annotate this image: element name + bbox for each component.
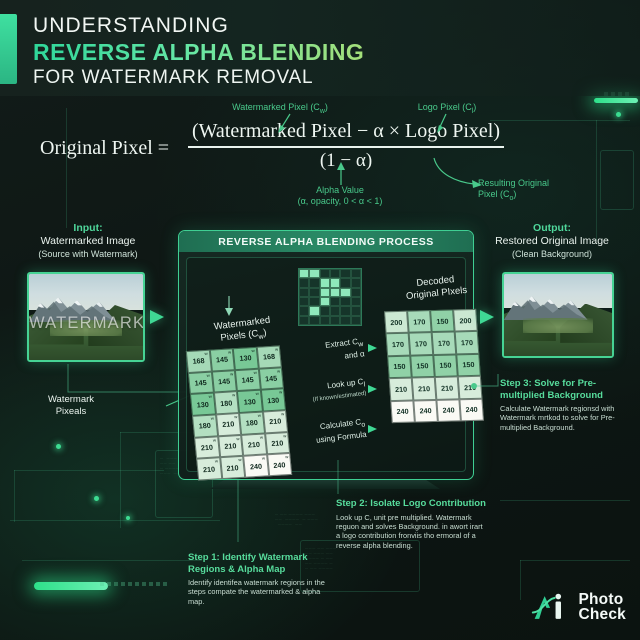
input-title: Input:	[0, 222, 178, 235]
output-title: Output:	[462, 222, 640, 235]
pixel-cell: 150	[387, 355, 412, 378]
pixel-cell: 168w	[186, 350, 212, 373]
alpha-map-cell	[330, 306, 340, 315]
arrow-process-to-output	[480, 310, 494, 324]
alpha-map-grid	[298, 268, 362, 326]
alpha-map-cell	[330, 269, 340, 278]
alpha-map-cell	[340, 278, 350, 287]
annotation-arrow-logo	[432, 113, 458, 135]
pixel-superscript: w	[275, 347, 279, 352]
alpha-map-cell	[299, 297, 309, 306]
pixel-cell: 170	[455, 331, 480, 354]
pixel-cell: 145w	[209, 348, 235, 371]
step-3-title: Step 3: Solve for Pre-multiplied Backgro…	[500, 378, 636, 401]
pixel-cell: 240	[390, 400, 415, 423]
pixel-cell: 150	[410, 355, 435, 378]
brand-logo[interactable]: Photo Check	[531, 592, 626, 622]
pixel-superscript: w	[253, 370, 257, 375]
formula-section: Original Pixel = (Watermarked Pixel − α …	[0, 100, 640, 208]
pixel-cell: 240	[413, 400, 438, 423]
annotation-arrow-result	[430, 156, 486, 190]
alpha-map-cell	[320, 278, 330, 287]
pixel-cell: 210w	[265, 432, 291, 455]
output-panel-heading: Output: Restored Original Image (Clean B…	[462, 222, 640, 260]
alpha-map-cell	[299, 269, 309, 278]
ai-logo-icon	[531, 592, 571, 622]
output-subtitle: Restored Original Image	[462, 235, 640, 248]
alpha-map-cell	[340, 269, 350, 278]
logo-line-1: Photo	[578, 592, 626, 607]
alpha-map-cell	[299, 316, 309, 325]
alpha-map-cell	[330, 288, 340, 297]
circuit-trace	[10, 520, 220, 521]
pixel-cell: 200	[384, 311, 409, 334]
pixel-cell: 210	[412, 377, 437, 400]
infographic-root: — ——— —— —— — ———— ——— —— ——— —— ——— —— …	[0, 0, 640, 640]
pixel-cell: 130w	[233, 347, 259, 370]
alpha-map-cell	[330, 297, 340, 306]
alpha-map-cell	[340, 316, 350, 325]
step-2-connector	[334, 460, 348, 500]
alpha-map-cell	[309, 306, 319, 315]
step-1-body: Identify identifea watermark regions in …	[188, 578, 336, 606]
annotation-arrow-watermarked	[272, 113, 300, 135]
pixel-cell: 170	[409, 332, 434, 355]
step-1-callout: Step 1: Identify Watermark Regions & Alp…	[188, 552, 336, 606]
alpha-map-cell	[351, 278, 361, 287]
circuit-trace	[520, 560, 630, 561]
alpha-map-cell	[330, 278, 340, 287]
title-line-2: REVERSE ALPHA BLENDING	[33, 38, 364, 66]
pixel-cell: 180w	[192, 414, 218, 437]
pixel-superscript: w	[230, 371, 234, 376]
circuit-trace	[14, 470, 15, 522]
input-detail: (Source with Watermark)	[0, 248, 178, 260]
alpha-map-cell	[320, 288, 330, 297]
pixel-cell: 170	[432, 332, 457, 355]
pixel-cell: 150	[433, 354, 458, 377]
alpha-map-cell	[351, 306, 361, 315]
title-line-1: UNDERSTANDING	[33, 13, 364, 38]
pixel-cell: 240w	[243, 455, 269, 478]
process-panel-title: REVERSE ALPHA BLENDING PROCESS	[179, 231, 473, 252]
result-line-1: Resulting Original	[478, 178, 628, 189]
pixel-cell: 145w	[258, 367, 284, 390]
alpha-map-cell	[320, 316, 330, 325]
pixel-cell: 180w	[213, 391, 239, 414]
alpha-map-cell	[299, 288, 309, 297]
alpha-map-cell	[299, 306, 309, 315]
arrow-into-watermarked-grid	[222, 296, 236, 318]
pixel-cell: 170	[386, 333, 411, 356]
pixel-superscript: w	[257, 413, 261, 418]
pixel-cell: 210w	[196, 458, 222, 481]
step-2-callout: Step 2: Isolate Logo Contribution Look u…	[336, 498, 488, 550]
fraction-bar	[188, 146, 504, 148]
pixel-cell: 210w	[220, 456, 246, 479]
title-line-3: FOR WATERMARK REMOVAL	[33, 66, 364, 90]
step-3-callout: Step 3: Solve for Pre-multiplied Backgro…	[500, 378, 636, 432]
pixel-superscript: w	[255, 391, 259, 396]
step-1-connector	[232, 480, 246, 550]
circuit-microtext: — —— ———— ——— —— ———— — ——— ———— ——	[275, 512, 318, 527]
logo-line-2: Check	[578, 607, 626, 622]
pixel-superscript: w	[277, 368, 281, 373]
step-2-title: Step 2: Isolate Logo Contribution	[336, 498, 488, 510]
pixel-cell: 210w	[216, 413, 242, 436]
pixel-cell: 150	[430, 310, 455, 333]
pixel-superscript: w	[283, 433, 287, 438]
pixel-cell: 145w	[235, 368, 261, 391]
alpha-map-cell	[351, 297, 361, 306]
circuit-node	[56, 444, 61, 449]
pixel-cell: 170	[407, 310, 432, 333]
pixel-cell: 240	[459, 398, 484, 421]
pixel-cell: 210	[389, 378, 414, 401]
pixel-cell: 145w	[211, 370, 237, 393]
pixel-cell: 210w	[194, 436, 220, 459]
pixel-superscript: w	[262, 456, 266, 461]
pixel-superscript: w	[204, 351, 208, 356]
alpha-map-cell	[320, 297, 330, 306]
step-3-connector	[468, 370, 508, 400]
alpha-map-cell	[309, 297, 319, 306]
alpha-map-cell	[320, 269, 330, 278]
circuit-trace	[22, 560, 202, 561]
circuit-node	[94, 496, 99, 501]
pixel-cell: 130w	[190, 393, 216, 416]
pixel-superscript: w	[260, 434, 264, 439]
input-panel-heading: Input: Watermarked Image (Source with Wa…	[0, 222, 178, 260]
pixel-cell: 130w	[237, 390, 263, 413]
pixel-superscript: w	[236, 436, 240, 441]
restored-image[interactable]	[502, 272, 614, 358]
alpha-detail: (α, opacity, 0 < α < 1)	[255, 196, 425, 207]
arrow-step-3	[368, 425, 377, 433]
alpha-map-cell	[340, 306, 350, 315]
decoded-pixels-grid: 2001701502001701701701701501501501502102…	[384, 309, 484, 423]
glow-bar	[34, 582, 108, 590]
watermarked-image[interactable]: WATERMARK	[27, 272, 145, 362]
circuit-trace	[120, 432, 121, 528]
pixel-superscript: w	[234, 414, 238, 419]
alpha-map-cell	[309, 278, 319, 287]
alpha-map-cell	[309, 269, 319, 278]
watermark-overlay-text: WATERMARK	[29, 314, 143, 333]
circuit-trace	[500, 500, 630, 501]
header: UNDERSTANDING REVERSE ALPHA BLENDING FOR…	[0, 0, 640, 96]
image-midground	[523, 318, 592, 333]
arrow-step-2	[368, 385, 377, 393]
pixel-cell: 210w	[262, 410, 288, 433]
pixel-superscript: w	[279, 390, 283, 395]
arrow-step-1	[368, 344, 377, 352]
image-mountains	[504, 292, 588, 320]
alpha-map-cell	[320, 306, 330, 315]
header-accent-bar	[0, 14, 17, 84]
pixel-cell: 240w	[267, 453, 293, 476]
step-3-body: Calculate Watermark regionsd with Waterm…	[500, 404, 636, 432]
circuit-dashes	[100, 582, 167, 586]
alpha-map-cell	[351, 316, 361, 325]
pixel-superscript: w	[215, 459, 219, 464]
annotation-arrow-alpha	[335, 162, 347, 186]
alpha-map-cell	[340, 288, 350, 297]
pixel-superscript: w	[251, 348, 255, 353]
alpha-map-cell	[351, 288, 361, 297]
circuit-node	[126, 516, 130, 520]
formula-lhs: Original Pixel =	[40, 137, 169, 160]
circuit-trace	[14, 470, 164, 471]
pixel-superscript: w	[285, 454, 289, 459]
pixel-cell: 240	[436, 399, 461, 422]
pixel-superscript: w	[208, 394, 212, 399]
logo-wordmark: Photo Check	[578, 592, 626, 622]
pixel-cell: 210w	[241, 433, 267, 456]
pixel-superscript: w	[228, 349, 232, 354]
watermarked-pixels-grid: 168w145w130w168w145w145w145w145w130w180w…	[186, 345, 292, 480]
pixel-superscript: w	[232, 393, 236, 398]
annotation-alpha-value: Alpha Value (α, opacity, 0 < α < 1)	[255, 185, 425, 207]
pixel-superscript: w	[213, 437, 217, 442]
result-line-2: Pixel (Co)	[478, 189, 628, 204]
alpha-map-cell	[299, 278, 309, 287]
arrow-input-to-process	[150, 310, 164, 324]
pixel-cell: 145w	[188, 371, 214, 394]
pixel-superscript: w	[206, 372, 210, 377]
alpha-title: Alpha Value	[255, 185, 425, 196]
alpha-map-cell	[309, 288, 319, 297]
circuit-trace	[520, 560, 521, 600]
step-1-title: Step 1: Identify Watermark Regions & Alp…	[188, 552, 336, 575]
pixel-cell: 210w	[218, 435, 244, 458]
pixel-cell: 130w	[260, 389, 286, 412]
pixel-superscript: w	[211, 416, 215, 421]
pixel-cell: 210	[435, 377, 460, 400]
pixel-superscript: w	[238, 457, 242, 462]
output-detail: (Clean Background)	[462, 248, 640, 260]
annotation-resulting-pixel: Resulting Original Pixel (Co)	[478, 178, 628, 204]
pixel-cell: 200	[453, 309, 478, 332]
pixel-superscript: w	[281, 411, 285, 416]
alpha-map-cell	[340, 297, 350, 306]
pixel-cell: 180w	[239, 412, 265, 435]
alpha-map-cell	[330, 316, 340, 325]
step-2-body: Look up C, unit pre multiplied. Watermar…	[336, 513, 486, 551]
alpha-map-cell	[351, 269, 361, 278]
alpha-map-cell	[309, 316, 319, 325]
pixel-cell: 168w	[256, 345, 282, 368]
input-subtitle: Watermarked Image	[0, 235, 178, 248]
page-title: UNDERSTANDING REVERSE ALPHA BLENDING FOR…	[33, 13, 364, 90]
